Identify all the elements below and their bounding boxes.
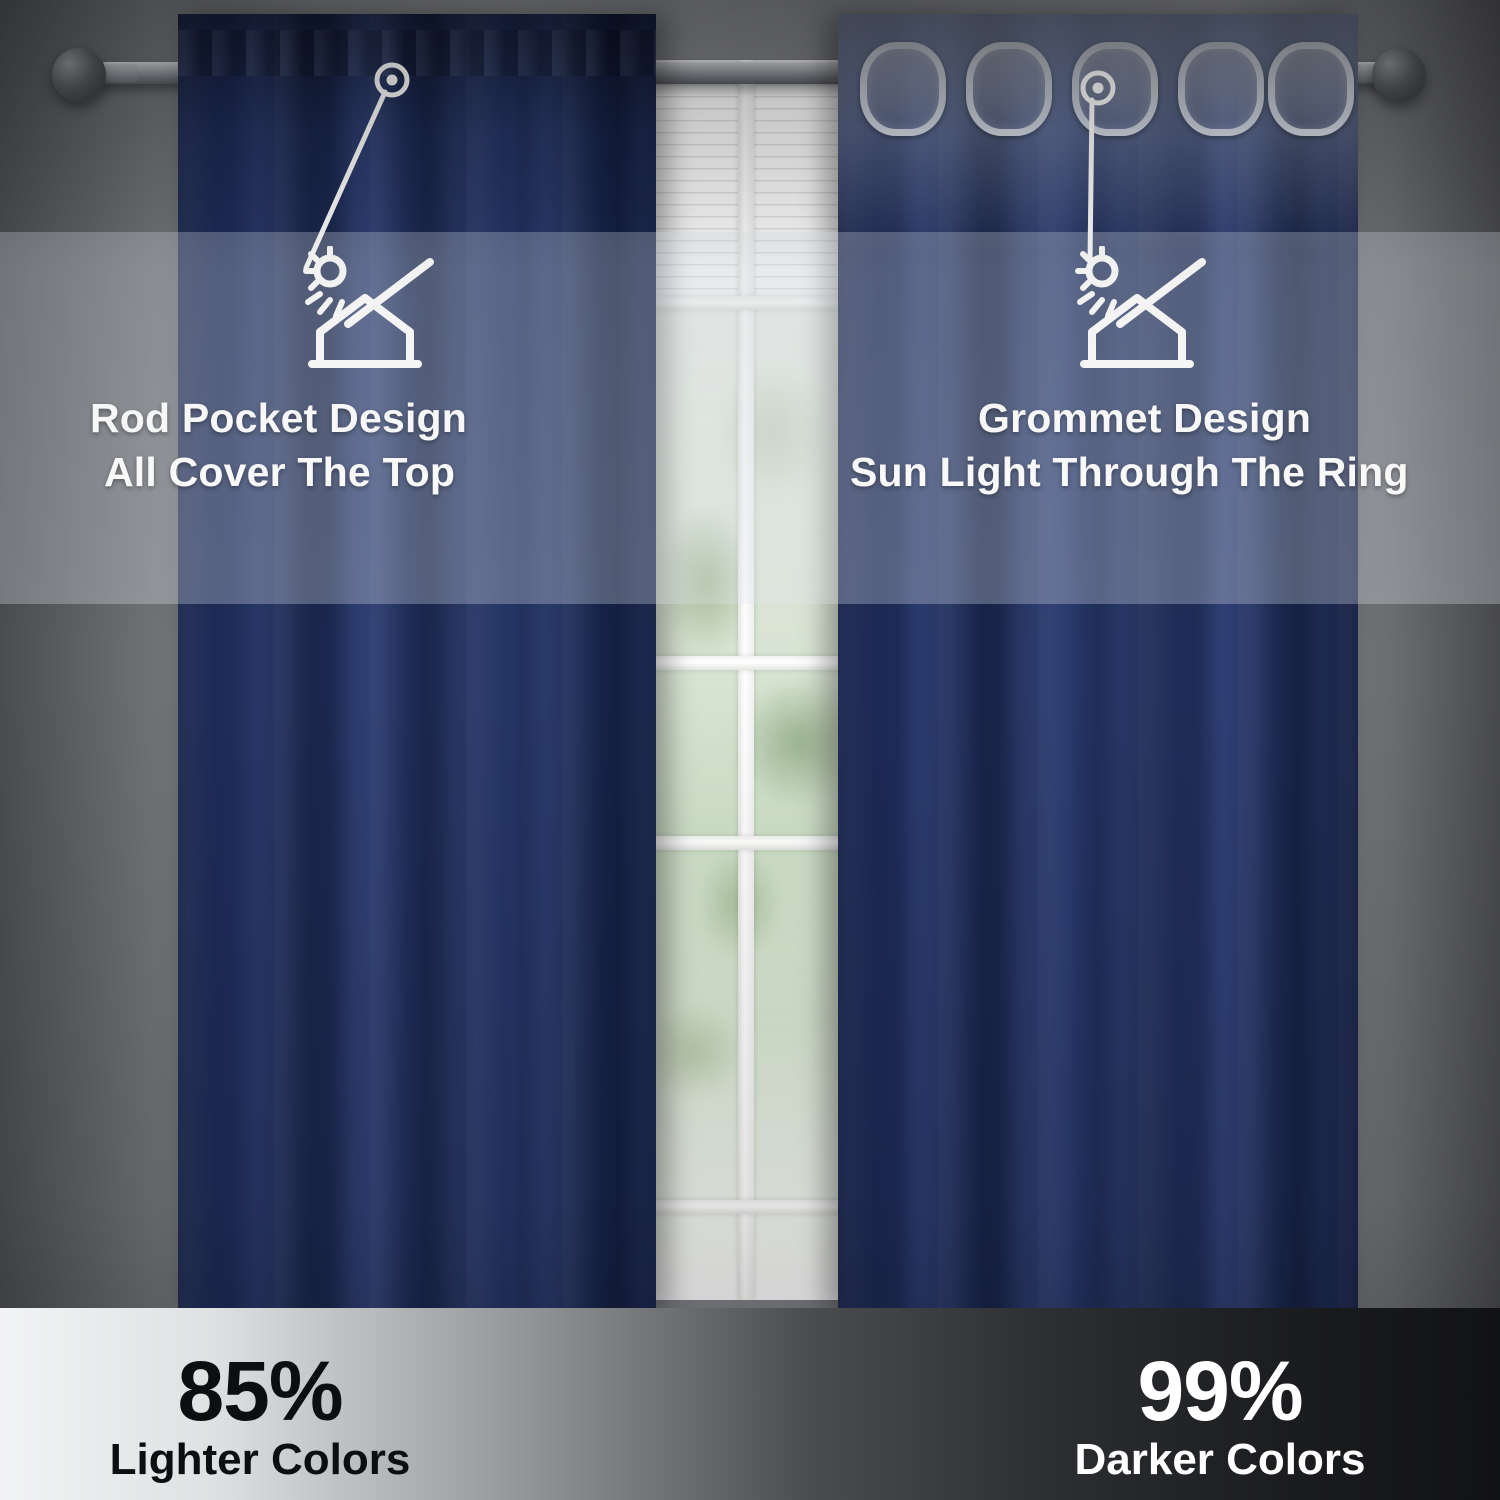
stat-darker-caption: Darker Colors bbox=[1010, 1434, 1430, 1486]
stats-band: 85% Lighter Colors 99% Darker Colors bbox=[0, 1308, 1500, 1500]
product-infographic: Rod Pocket Design All Cover The Top Grom… bbox=[0, 0, 1500, 1500]
stat-lighter-percent: 85% bbox=[50, 1350, 470, 1432]
stat-darker-percent: 99% bbox=[1010, 1350, 1430, 1432]
stat-darker-colors: 99% Darker Colors bbox=[1010, 1350, 1430, 1486]
stat-lighter-caption: Lighter Colors bbox=[50, 1434, 470, 1486]
stat-lighter-colors: 85% Lighter Colors bbox=[50, 1350, 470, 1486]
scene-vignette bbox=[0, 0, 1500, 1500]
